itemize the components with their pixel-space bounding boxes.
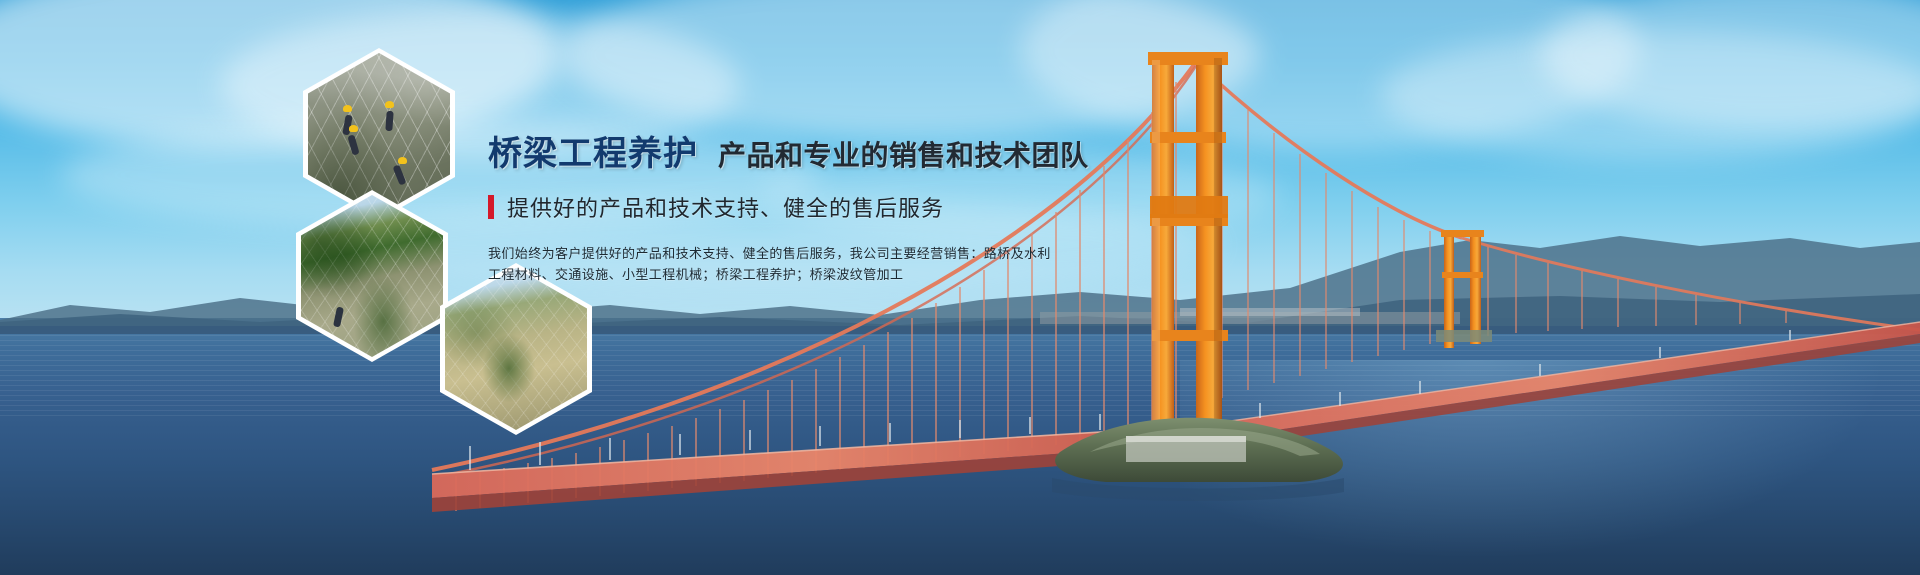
banner-paragraph: 我们始终为客户提供好的产品和技术支持、健全的售后服务，我公司主要经营销售：路桥及… xyxy=(488,243,1208,285)
headline-main: 桥梁工程养护 xyxy=(488,126,698,175)
paragraph-line: 我们始终为客户提供好的产品和技术支持、健全的售后服务，我公司主要经营销售：路桥及… xyxy=(488,243,1208,264)
hex-photo-3[interactable] xyxy=(440,263,592,435)
headline: 桥梁工程养护 产品和专业的销售和技术团队 xyxy=(488,126,1208,175)
subheadline: 提供好的产品和技术支持、健全的售后服务 xyxy=(488,191,1208,223)
subheadline-text: 提供好的产品和技术支持、健全的售后服务 xyxy=(507,191,944,223)
banner-copy: 桥梁工程养护 产品和专业的销售和技术团队 提供好的产品和技术支持、健全的售后服务… xyxy=(488,126,1208,285)
red-accent-bar xyxy=(488,195,494,219)
hex-photo-2[interactable] xyxy=(296,190,448,362)
paragraph-line: 工程材料、交通设施、小型工程机械；桥梁工程养护；桥梁波纹管加工 xyxy=(488,264,1208,285)
headline-secondary: 产品和专业的销售和技术团队 xyxy=(718,134,1089,174)
hero-banner: 桥梁工程养护 产品和专业的销售和技术团队 提供好的产品和技术支持、健全的售后服务… xyxy=(0,0,1920,575)
suspension-bridge xyxy=(0,0,1920,575)
